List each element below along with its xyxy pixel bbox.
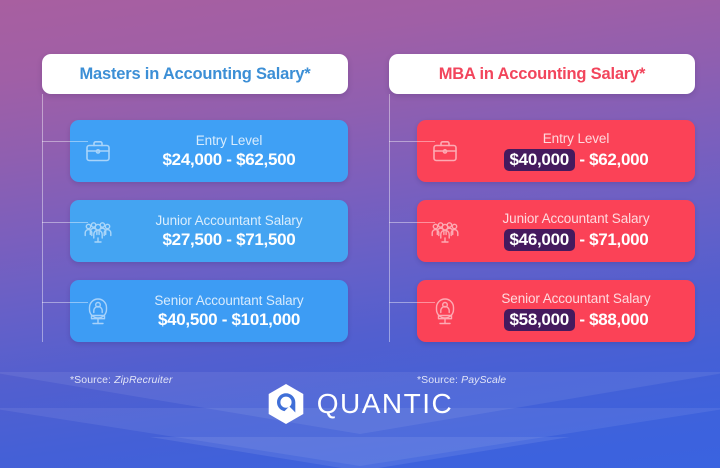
value-rest: - $71,000 — [575, 230, 649, 249]
column-mba: MBA in Accounting Salary* Entry — [375, 54, 695, 94]
mba-card-entry-level[interactable]: Entry Level $40,000 - $62,000 — [417, 120, 695, 182]
card-label: Entry Level — [126, 133, 332, 148]
brand-name-text: QUANTIC — [317, 388, 454, 420]
value-rest: - $88,000 — [575, 310, 649, 329]
mba-card-list: Entry Level $40,000 - $62,000 — [417, 120, 695, 360]
card-text: Senior Accountant Salary $40,500 - $101,… — [126, 293, 348, 329]
card-label: Senior Accountant Salary — [473, 291, 679, 306]
value-highlight: $58,000 — [504, 309, 575, 331]
masters-title-pill: Masters in Accounting Salary* — [42, 54, 348, 94]
card-label: Junior Accountant Salary — [473, 211, 679, 226]
mba-card-junior-accountant[interactable]: Junior Accountant Salary $46,000 - $71,0… — [417, 200, 695, 262]
connector-branch-1 — [389, 141, 435, 142]
card-value: $58,000 - $88,000 — [473, 309, 679, 331]
connector-branch-3 — [42, 302, 88, 303]
mba-connector-tree — [389, 94, 439, 342]
value-highlight: $40,000 — [504, 149, 575, 171]
masters-card-list: Entry Level $24,000 - $62,500 — [70, 120, 348, 360]
card-text: Junior Accountant Salary $27,500 - $71,5… — [126, 213, 348, 249]
chevron-shape-3 — [150, 437, 570, 468]
card-label: Senior Accountant Salary — [126, 293, 332, 308]
connector-branch-2 — [389, 222, 435, 223]
card-text: Entry Level $24,000 - $62,500 — [126, 133, 348, 169]
connector-branch-3 — [389, 302, 435, 303]
card-label: Junior Accountant Salary — [126, 213, 332, 228]
card-value: $40,500 - $101,000 — [126, 310, 332, 329]
masters-card-senior-accountant[interactable]: Senior Accountant Salary $40,500 - $101,… — [70, 280, 348, 342]
card-text: Junior Accountant Salary $46,000 - $71,0… — [473, 211, 695, 250]
connector-spine — [389, 94, 390, 342]
card-text: Senior Accountant Salary $58,000 - $88,0… — [473, 291, 695, 330]
column-masters: Masters in Accounting Salary* E — [28, 54, 348, 94]
brand-lockup: QUANTIC — [0, 383, 720, 425]
mba-title-text: MBA in Accounting Salary* — [439, 65, 645, 84]
masters-card-junior-accountant[interactable]: Junior Accountant Salary $27,500 - $71,5… — [70, 200, 348, 262]
card-text: Entry Level $40,000 - $62,000 — [473, 131, 695, 170]
quantic-logo-icon — [267, 383, 305, 425]
connector-branch-2 — [42, 222, 88, 223]
masters-connector-tree — [42, 94, 92, 342]
card-value: $40,000 - $62,000 — [473, 149, 679, 171]
mba-card-senior-accountant[interactable]: Senior Accountant Salary $58,000 - $88,0… — [417, 280, 695, 342]
card-label: Entry Level — [473, 131, 679, 146]
masters-card-entry-level[interactable]: Entry Level $24,000 - $62,500 — [70, 120, 348, 182]
card-value: $46,000 - $71,000 — [473, 229, 679, 251]
card-value: $24,000 - $62,500 — [126, 150, 332, 169]
mba-title-pill: MBA in Accounting Salary* — [389, 54, 695, 94]
masters-title-text: Masters in Accounting Salary* — [79, 65, 310, 84]
connector-branch-1 — [42, 141, 88, 142]
infographic-canvas: Masters in Accounting Salary* E — [0, 0, 720, 468]
value-rest: - $62,000 — [575, 150, 649, 169]
connector-spine — [42, 94, 43, 342]
card-value: $27,500 - $71,500 — [126, 230, 332, 249]
value-highlight: $46,000 — [504, 229, 575, 251]
